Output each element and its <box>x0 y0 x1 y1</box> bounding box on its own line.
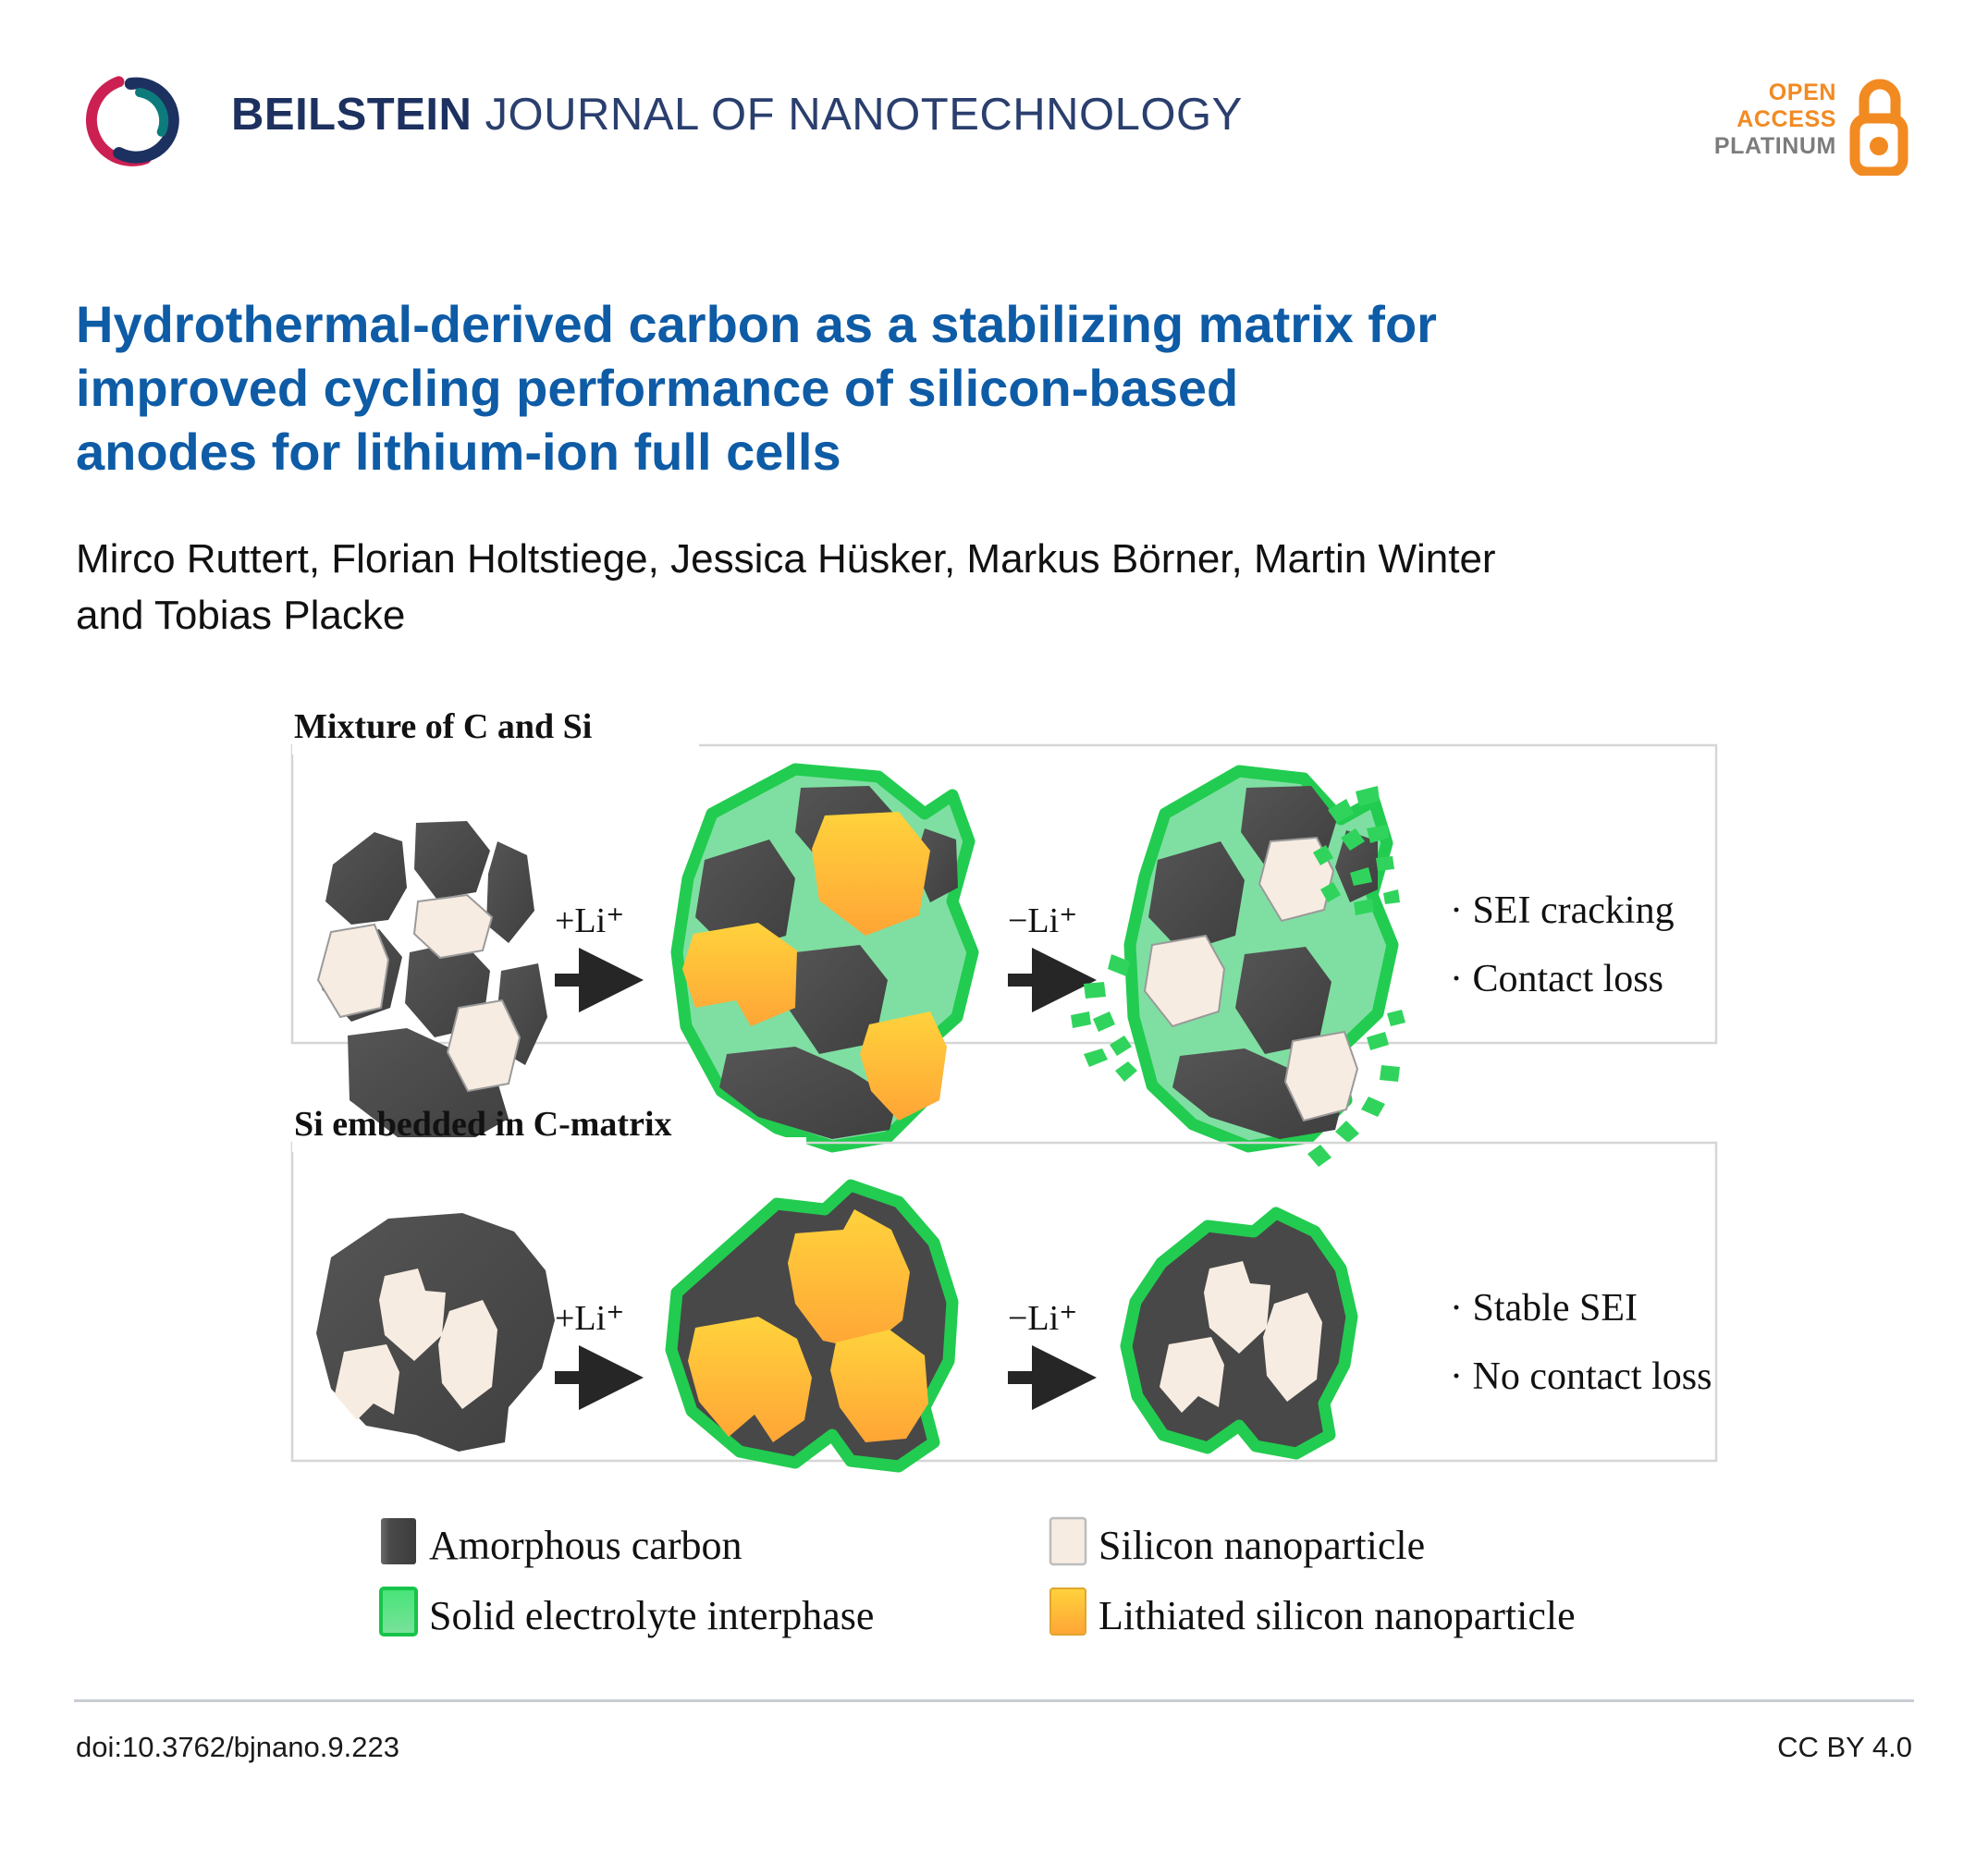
panel-2-particle-delithiated <box>1126 1213 1352 1453</box>
panel-2-particle-lithiated <box>671 1185 952 1466</box>
open-access-line-open: OPEN <box>1714 80 1836 106</box>
panel-2-arrow-label-minus: −Li⁺ <box>1008 1299 1077 1338</box>
legend-swatch-solid-electrolyte-interphase <box>381 1588 416 1635</box>
panel-1-arrow-label-plus: +Li⁺ <box>555 901 624 940</box>
author-line-2: and Tobias Placke <box>76 588 1777 644</box>
legend-swatch-amorphous-carbon <box>381 1518 416 1564</box>
legend-item-amorphous-carbon: Amorphous carbon <box>381 1518 742 1568</box>
panel-1-particle-lithiated <box>677 769 973 1146</box>
masthead-brand-light: JOURNAL OF NANOTECHNOLOGY <box>472 90 1242 140</box>
panel-1-arrow-lithiation: +Li⁺ <box>555 901 624 980</box>
panel-2-arrow-lithiation: +Li⁺ <box>555 1299 624 1378</box>
panel-2-particle-pristine <box>316 1213 555 1452</box>
footer-doi[interactable]: doi:10.3762/bjnano.9.223 <box>76 1731 399 1764</box>
open-access-line-platinum: PLATINUM <box>1714 133 1836 160</box>
panel-1-bullet-2: · Contact loss <box>1450 958 1663 1000</box>
legend-label-silicon-nanoparticle: Silicon nanoparticle <box>1098 1523 1425 1568</box>
legend-label-lithiated-silicon-nanoparticle: Lithiated silicon nanoparticle <box>1098 1593 1576 1638</box>
masthead-brand-bold: BEILSTEIN <box>231 90 472 140</box>
article-title-line-3: anodes for lithium-ion full cells <box>76 420 1768 484</box>
panel-2-bullet-2: · No contact loss <box>1450 1355 1712 1398</box>
article-title: Hydrothermal-derived carbon as a stabili… <box>76 292 1768 484</box>
panel-2-arrow-delithiation: −Li⁺ <box>1008 1299 1077 1378</box>
panel-1-heading: Mixture of C and Si <box>294 707 592 746</box>
open-lock-icon <box>1840 72 1914 176</box>
legend-swatch-lithiated-silicon-nanoparticle <box>1050 1588 1086 1635</box>
footer-license: CC BY 4.0 <box>1777 1731 1912 1764</box>
beilstein-ring-logo-icon <box>83 65 192 174</box>
article-title-line-1: Hydrothermal-derived carbon as a stabili… <box>76 292 1768 356</box>
open-access-words: OPEN ACCESS PLATINUM <box>1714 80 1836 160</box>
panel-2-heading: Si embedded in C-matrix <box>294 1105 672 1144</box>
panel-1-arrow-label-minus: −Li⁺ <box>1008 901 1077 940</box>
legend-item-solid-electrolyte-interphase: Solid electrolyte interphase <box>381 1588 874 1638</box>
panel-1-particle-cracked <box>1071 771 1405 1167</box>
masthead: BEILSTEIN JOURNAL OF NANOTECHNOLOGY OPEN… <box>83 55 1914 176</box>
panel-1-arrow-delithiation: −Li⁺ <box>1008 901 1077 980</box>
panel-1-bullet-1: · SEI cracking <box>1450 889 1675 932</box>
footer-divider <box>74 1699 1914 1702</box>
figure-legend: Amorphous carbon Silicon nanoparticle So… <box>381 1518 1576 1638</box>
article-title-line-2: improved cycling performance of silicon-… <box>76 356 1768 420</box>
panel-2-bullet-1: · Stable SEI <box>1450 1287 1638 1330</box>
panel-2-arrow-label-plus: +Li⁺ <box>555 1299 624 1338</box>
graphical-abstract-figure: Mixture of C and Si +Li⁺ <box>277 703 1729 1673</box>
panel-1-particle-pristine <box>318 821 547 1145</box>
masthead-journal-name: BEILSTEIN JOURNAL OF NANOTECHNOLOGY <box>231 89 1243 141</box>
legend-item-lithiated-silicon-nanoparticle: Lithiated silicon nanoparticle <box>1050 1588 1576 1638</box>
open-access-line-access: ACCESS <box>1714 106 1836 133</box>
legend-label-solid-electrolyte-interphase: Solid electrolyte interphase <box>429 1593 874 1638</box>
legend-item-silicon-nanoparticle: Silicon nanoparticle <box>1050 1518 1425 1568</box>
legend-label-amorphous-carbon: Amorphous carbon <box>429 1523 742 1568</box>
open-access-badge: OPEN ACCESS PLATINUM <box>1701 72 1914 174</box>
article-authors: Mirco Ruttert, Florian Holtstiege, Jessi… <box>76 532 1777 644</box>
author-line-1: Mirco Ruttert, Florian Holtstiege, Jessi… <box>76 532 1777 588</box>
legend-swatch-silicon-nanoparticle <box>1050 1518 1086 1564</box>
journal-cover-page: BEILSTEIN JOURNAL OF NANOTECHNOLOGY OPEN… <box>0 0 1988 1851</box>
